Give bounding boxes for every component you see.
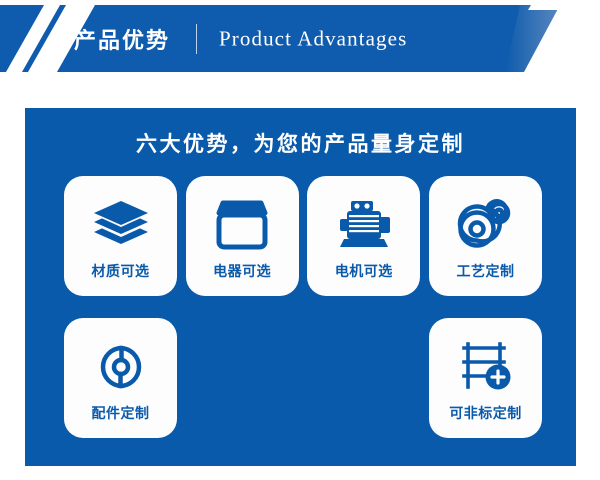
appliance-box-icon bbox=[211, 196, 273, 254]
advantages-grid: 材质可选 电器可选 bbox=[64, 176, 542, 438]
rack-plus-icon bbox=[455, 338, 517, 396]
belt-pulley-icon bbox=[454, 196, 516, 254]
advantage-card-material[interactable]: 材质可选 bbox=[64, 176, 177, 296]
advantage-card-label: 配件定制 bbox=[92, 403, 150, 423]
advantage-card-label: 电器可选 bbox=[213, 261, 271, 281]
advantage-card-motor[interactable]: 电机可选 bbox=[307, 176, 420, 296]
advantage-card-process[interactable]: 工艺定制 bbox=[429, 176, 542, 296]
advantage-card-accessory[interactable]: 配件定制 bbox=[64, 318, 177, 438]
parts-arcs-icon bbox=[90, 338, 152, 396]
advantage-card-label: 材质可选 bbox=[92, 261, 150, 281]
electric-motor-icon bbox=[333, 196, 395, 254]
header-banner: 产品优势 Product Advantages bbox=[0, 5, 600, 72]
advantage-card-appliance[interactable]: 电器可选 bbox=[186, 176, 299, 296]
advantage-card-label: 可非标定制 bbox=[449, 403, 522, 423]
advantage-card-label: 工艺定制 bbox=[456, 261, 514, 281]
advantage-card-nonstandard[interactable]: 可非标定制 bbox=[429, 318, 542, 438]
layers-stack-icon bbox=[90, 196, 152, 254]
header-banner-shape bbox=[0, 5, 600, 72]
advantage-card-label: 电机可选 bbox=[335, 261, 393, 281]
advantages-panel: 六大优势，为您的产品量身定制 材质可选 bbox=[25, 108, 576, 466]
panel-headline: 六大优势，为您的产品量身定制 bbox=[25, 128, 576, 158]
product-advantages-banner: 产品优势 Product Advantages 六大优势，为您的产品量身定制 bbox=[0, 0, 600, 480]
